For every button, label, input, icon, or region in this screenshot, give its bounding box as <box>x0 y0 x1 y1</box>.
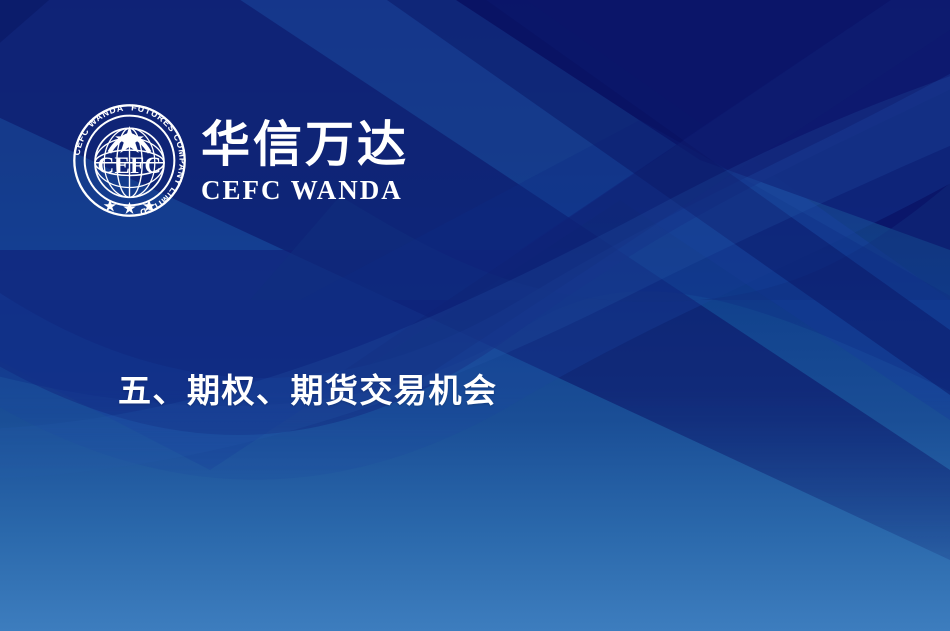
band-dark-descending <box>0 0 950 560</box>
brand-name-chinese: 华信万达 <box>201 120 409 171</box>
company-logo: CEFC WANDA FUTURES COMPANY LIMITED CEFC <box>72 103 409 218</box>
brand-name-english: CEFC WANDA <box>201 176 403 206</box>
band-x-stroke-a <box>330 0 950 395</box>
slide-title: 五、期权、期货交易机会 <box>118 371 498 411</box>
logo-wordmark: 华信万达 CEFC WANDA <box>201 116 409 206</box>
cefc-wanda-seal-emblem-icon: CEFC WANDA FUTURES COMPANY LIMITED CEFC <box>72 103 187 218</box>
band-x-stroke-b <box>330 0 950 380</box>
presentation-slide: CEFC WANDA FUTURES COMPANY LIMITED CEFC <box>0 0 950 631</box>
emblem-center-text: CEFC <box>98 153 162 178</box>
band-corner-sliver <box>0 0 95 95</box>
background-decoration <box>0 0 950 631</box>
band-dark-upper-right <box>395 0 950 250</box>
